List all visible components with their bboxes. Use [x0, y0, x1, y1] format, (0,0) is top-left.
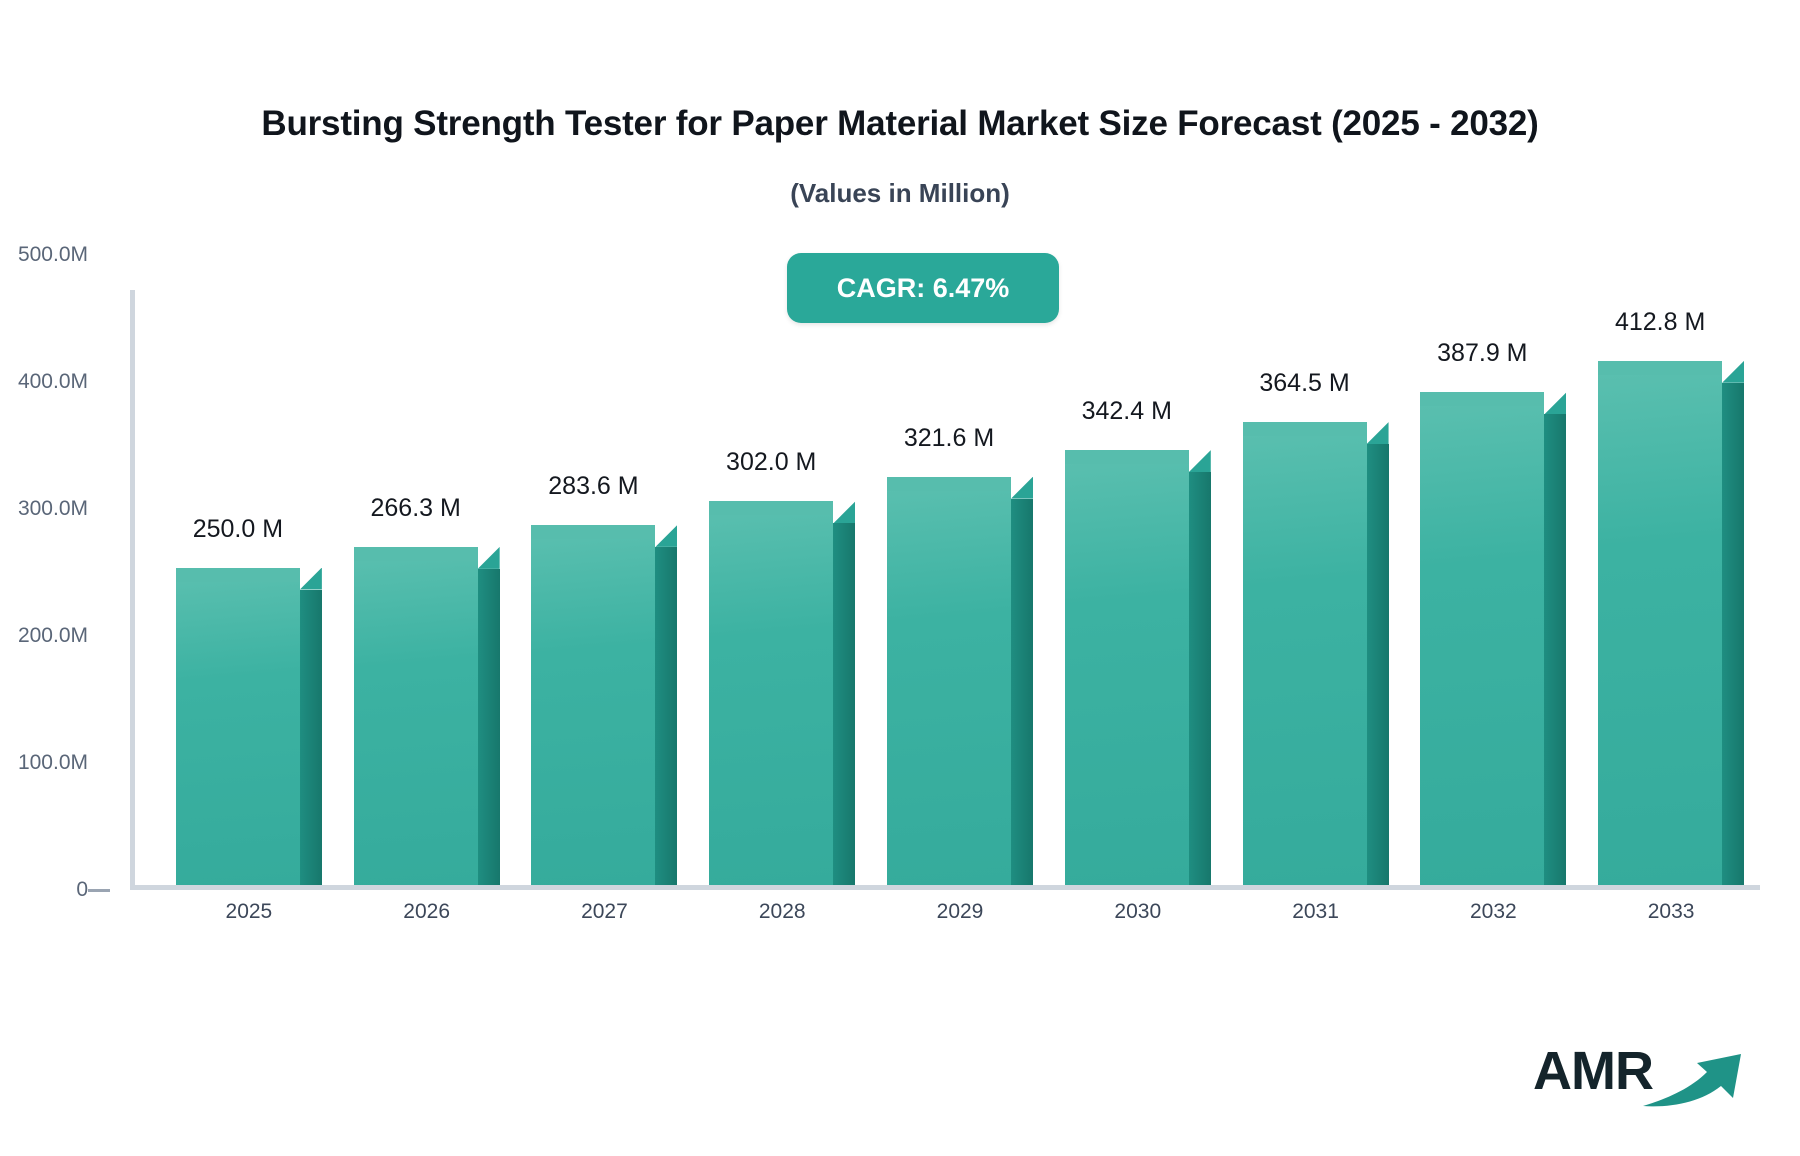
bar[interactable]: 283.6 M — [531, 525, 655, 885]
chart-subtitle: (Values in Million) — [0, 178, 1800, 209]
bar-top-face — [300, 568, 322, 590]
bar-front-face — [887, 477, 1011, 885]
bar-top-face — [655, 525, 677, 547]
x-axis-tick-label: 2030 — [1114, 900, 1161, 924]
x-axis-tick-label: 2026 — [403, 900, 450, 924]
bar-side-face — [1011, 499, 1033, 885]
bar-side-face — [478, 569, 500, 885]
x-axis-tick-label: 2027 — [581, 900, 628, 924]
x-axis-tick-label: 2028 — [759, 900, 806, 924]
bar-front-face — [531, 525, 655, 885]
page-title: Bursting Strength Tester for Paper Mater… — [0, 104, 1800, 144]
bar-side-face — [1367, 444, 1389, 885]
bar-value-label: 342.4 M — [1082, 397, 1172, 426]
bar-top-highlight — [1065, 450, 1189, 464]
bar-top-face — [1011, 477, 1033, 499]
bar-side-face — [1544, 414, 1566, 885]
bar-top-highlight — [531, 525, 655, 539]
bar[interactable]: 364.5 M — [1243, 422, 1367, 885]
bar[interactable]: 321.6 M — [887, 477, 1011, 885]
bar-top-highlight — [1243, 422, 1367, 436]
bar-top-face — [833, 501, 855, 523]
bar-front-face — [1598, 361, 1722, 885]
bar-top-highlight — [887, 477, 1011, 491]
bar-top-highlight — [709, 501, 833, 515]
x-axis-tick-label: 2031 — [1292, 900, 1339, 924]
bar-top-highlight — [1598, 361, 1722, 375]
bar[interactable]: 302.0 M — [709, 501, 833, 885]
growth-arrow-icon — [1641, 1050, 1753, 1108]
bar[interactable]: 412.8 M — [1598, 361, 1722, 885]
bar-top-highlight — [176, 568, 300, 582]
bar-value-label: 283.6 M — [548, 472, 638, 501]
bar-front-face — [1420, 392, 1544, 885]
bar-top-face — [478, 547, 500, 569]
x-axis-tick-label: 2029 — [937, 900, 984, 924]
amr-logo-text: AMR — [1533, 1040, 1653, 1102]
amr-logo: AMR — [1533, 1038, 1753, 1110]
bar-side-face — [833, 523, 855, 885]
y-axis-tick-label: 100.0M — [0, 751, 88, 775]
bar-side-face — [300, 590, 322, 886]
bar-front-face — [354, 547, 478, 885]
bar-front-face — [1065, 450, 1189, 885]
y-axis-tick-label: 0 — [0, 878, 88, 902]
bar-side-face — [655, 547, 677, 885]
bar[interactable]: 387.9 M — [1420, 392, 1544, 885]
x-axis-line — [130, 885, 1760, 890]
bar-value-label: 387.9 M — [1437, 339, 1527, 368]
bar-value-label: 250.0 M — [193, 515, 283, 544]
bar-top-face — [1544, 392, 1566, 414]
bar-value-label: 302.0 M — [726, 448, 816, 477]
y-axis-line — [130, 290, 135, 890]
bar[interactable]: 342.4 M — [1065, 450, 1189, 885]
y-axis-zero-tick — [88, 889, 110, 892]
y-axis-tick-label: 200.0M — [0, 624, 88, 648]
x-axis-tick-label: 2025 — [226, 900, 273, 924]
x-axis-tick-label: 2033 — [1648, 900, 1695, 924]
bar-value-label: 266.3 M — [370, 494, 460, 523]
x-axis-tick-label: 2032 — [1470, 900, 1517, 924]
y-axis-tick-label: 300.0M — [0, 497, 88, 521]
bar-top-face — [1189, 450, 1211, 472]
bar-side-face — [1189, 472, 1211, 885]
bar-front-face — [176, 568, 300, 886]
y-axis-tick-label: 500.0M — [0, 243, 88, 267]
bar-value-label: 364.5 M — [1259, 369, 1349, 398]
y-axis-tick-label: 400.0M — [0, 370, 88, 394]
plot-area: 250.0 M266.3 M283.6 M302.0 M321.6 M342.4… — [130, 290, 1760, 890]
bar-value-label: 412.8 M — [1615, 308, 1705, 337]
bar-side-face — [1722, 383, 1744, 885]
bar-front-face — [709, 501, 833, 885]
bar-value-label: 321.6 M — [904, 424, 994, 453]
bar-top-highlight — [354, 547, 478, 561]
bar[interactable]: 266.3 M — [354, 547, 478, 885]
bar[interactable]: 250.0 M — [176, 568, 300, 886]
bar-top-highlight — [1420, 392, 1544, 406]
bar-front-face — [1243, 422, 1367, 885]
bar-top-face — [1722, 361, 1744, 383]
bar-top-face — [1367, 422, 1389, 444]
